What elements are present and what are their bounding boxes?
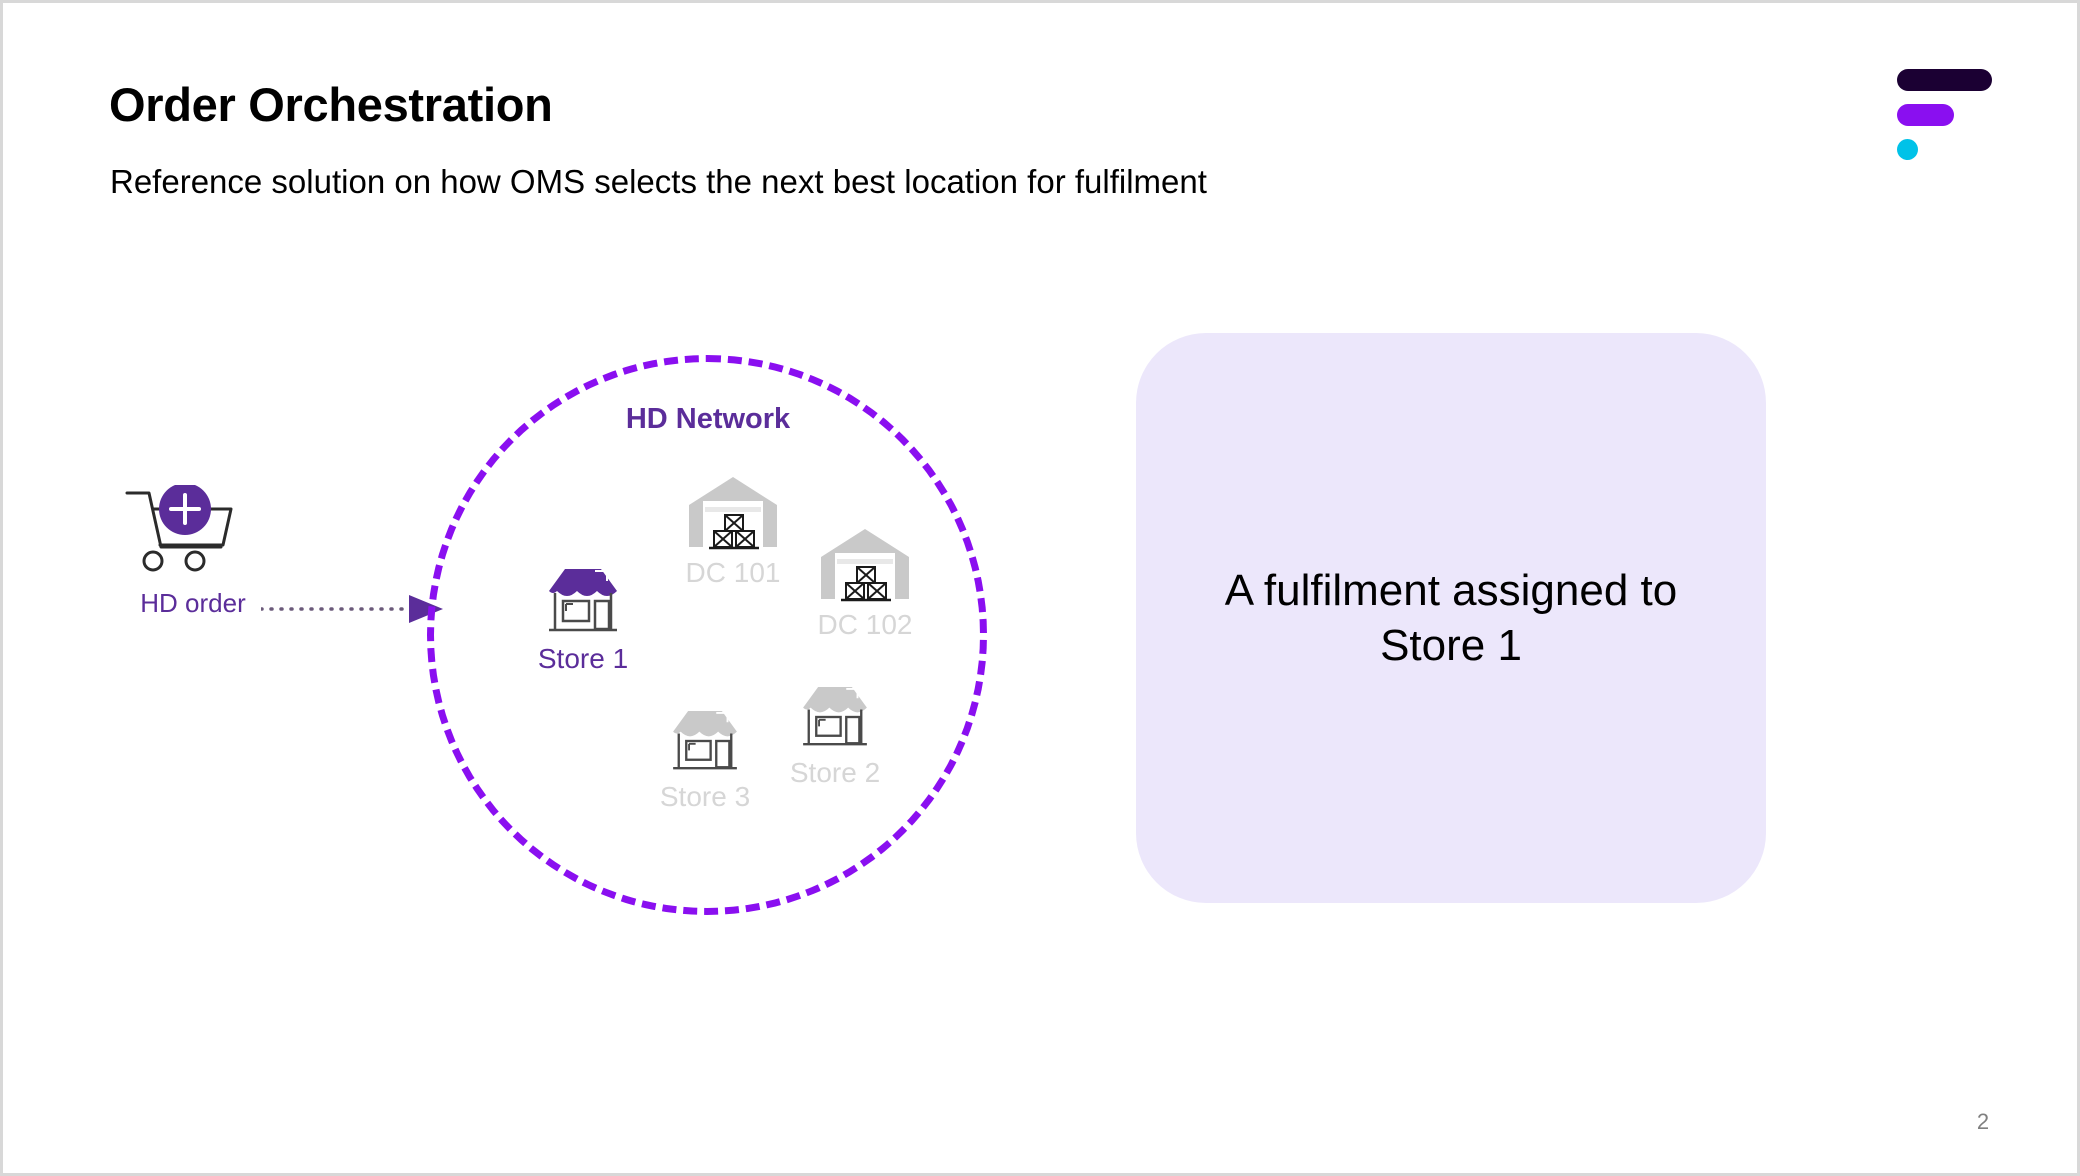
network-node-store-1[interactable]: Store 1 — [503, 561, 663, 675]
result-panel: A fulfilment assigned to Store 1 — [1136, 333, 1766, 903]
hd-network-label: HD Network — [563, 403, 853, 436]
slide-canvas: Order Orchestration Reference solution o… — [0, 0, 2080, 1176]
network-node-label: Store 1 — [503, 643, 663, 675]
logo-dot-cyan-icon — [1897, 139, 1918, 160]
network-node-store-3[interactable]: Store 3 — [625, 703, 785, 813]
result-text: A fulfilment assigned to Store 1 — [1181, 563, 1721, 673]
order-flow-arrow — [261, 589, 451, 629]
page-title: Order Orchestration — [109, 77, 553, 132]
warehouse-icon — [683, 471, 783, 555]
hd-order-label: HD order — [113, 588, 273, 619]
network-node-label: Store 3 — [625, 781, 785, 813]
network-node-dc-102[interactable]: DC 102 — [785, 523, 945, 641]
hd-order-node: HD order — [113, 485, 273, 645]
store-icon — [660, 703, 750, 779]
store-icon — [535, 561, 631, 641]
store-icon — [790, 679, 880, 755]
network-node-label: DC 102 — [785, 609, 945, 641]
logo-bar-dark-icon — [1897, 69, 1992, 91]
shopping-cart-add-icon — [123, 485, 243, 585]
page-number: 2 — [1963, 1109, 2003, 1135]
page-subtitle: Reference solution on how OMS selects th… — [110, 163, 1207, 201]
logo-bar-purple-icon — [1897, 104, 1954, 126]
brand-logo — [1897, 69, 2007, 159]
warehouse-icon — [815, 523, 915, 607]
